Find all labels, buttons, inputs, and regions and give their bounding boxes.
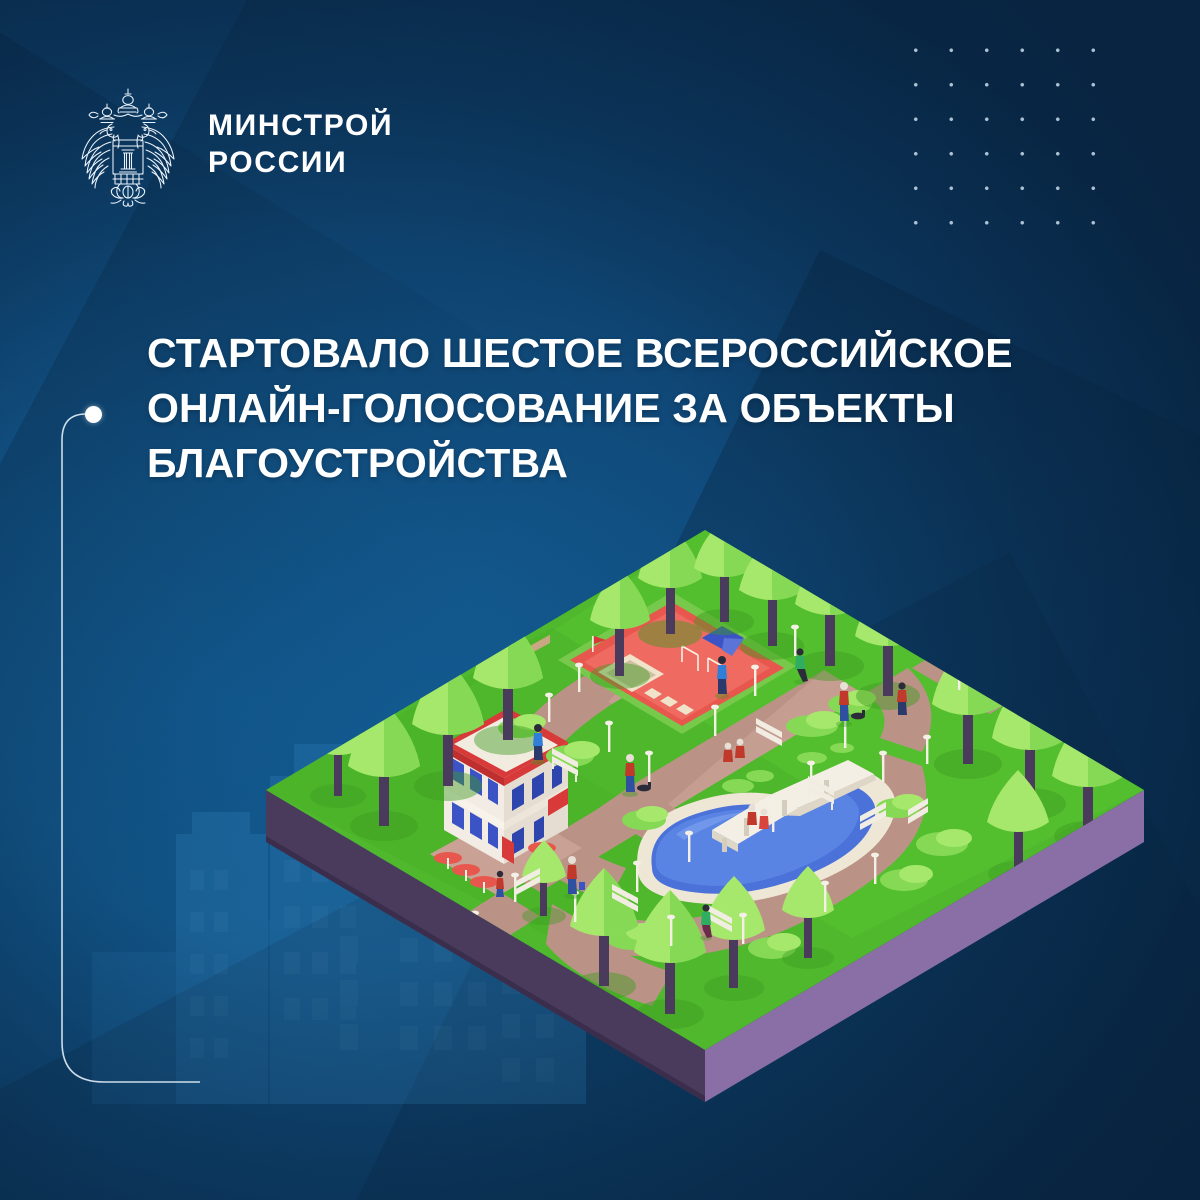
page-title: СТАРТОВАЛО ШЕСТОЕ ВСЕРОССИЙСКОЕ ОНЛАЙН-Г… bbox=[147, 326, 1082, 491]
wordmark-line-2: РОССИИ bbox=[208, 145, 393, 182]
isometric-park-illustration bbox=[252, 518, 1158, 1128]
ministry-logo: МИНСТРОЙ РОССИИ bbox=[74, 82, 393, 208]
bracket-end-dot-icon bbox=[85, 406, 102, 423]
headline-line-1: СТАРТОВАЛО ШЕСТОЕ ВСЕРОССИЙСКОЕ bbox=[147, 326, 1082, 381]
cafe-visitor bbox=[496, 871, 504, 897]
headline-line-2: ОНЛАЙН-ГОЛОСОВАНИЕ ЗА ОБЪЕКТЫ bbox=[147, 381, 1082, 436]
wordmark-line-1: МИНСТРОЙ bbox=[208, 108, 393, 145]
headline-line-3: БЛАГОУСТРОЙСТВА bbox=[147, 436, 1082, 491]
russian-double-headed-eagle-emblem-icon bbox=[74, 82, 182, 208]
poster-canvas: МИНСТРОЙ РОССИИ СТАРТОВАЛО ШЕСТОЕ ВСЕРОС… bbox=[0, 0, 1200, 1200]
ministry-wordmark: МИНСТРОЙ РОССИИ bbox=[208, 108, 393, 181]
dot-grid-pattern bbox=[896, 31, 1122, 241]
